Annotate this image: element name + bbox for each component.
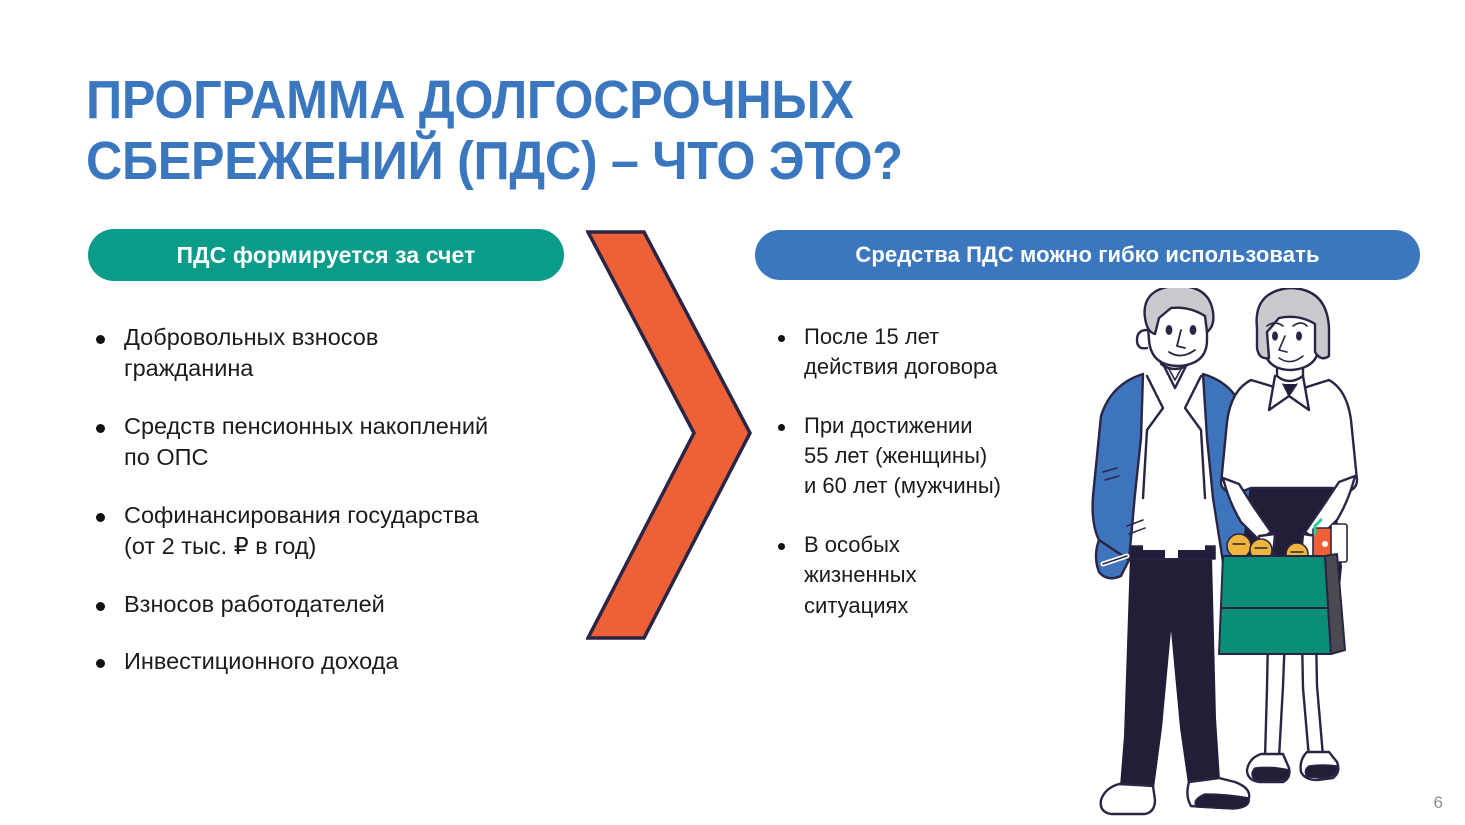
woman-figure xyxy=(1219,288,1357,782)
bullet-dot-icon xyxy=(96,335,105,344)
right-panel-heading-pill: Средства ПДС можно гибко использовать xyxy=(755,230,1420,280)
left-bullet-list: Добровольных взносов гражданина Средств … xyxy=(96,322,574,678)
right-panel-heading-label: Средства ПДС можно гибко использовать xyxy=(855,242,1319,268)
left-panel-heading-label: ПДС формируется за счет xyxy=(177,242,476,269)
man-and-woman-illustration xyxy=(1085,288,1425,818)
bullet-dot-icon xyxy=(778,424,785,431)
list-item: Взносов работодателей xyxy=(96,589,574,620)
list-item-label: При достижении 55 лет (женщины) и 60 лет… xyxy=(804,411,1001,502)
chevron-right-arrow-icon xyxy=(586,228,752,642)
list-item: При достижении 55 лет (женщины) и 60 лет… xyxy=(778,411,1078,502)
bullet-dot-icon xyxy=(778,335,785,342)
list-item-label: В особых жизненных ситуациях xyxy=(804,530,917,621)
list-item: Инвестиционного дохода xyxy=(96,646,574,677)
list-item-label: Средств пенсионных накоплений по ОПС xyxy=(124,411,488,474)
right-bullet-list: После 15 лет действия договора При дости… xyxy=(778,322,1078,621)
bullet-dot-icon xyxy=(96,513,105,522)
bullet-dot-icon xyxy=(96,659,105,668)
bullet-dot-icon xyxy=(96,424,105,433)
list-item: В особых жизненных ситуациях xyxy=(778,530,1078,621)
list-item: Добровольных взносов гражданина xyxy=(96,322,574,385)
list-item: После 15 лет действия договора xyxy=(778,322,1078,383)
list-item-label: Взносов работодателей xyxy=(124,589,385,620)
list-item: Средств пенсионных накоплений по ОПС xyxy=(96,411,574,474)
list-item-label: После 15 лет действия договора xyxy=(804,322,997,383)
list-item-label: Добровольных взносов гражданина xyxy=(124,322,378,385)
page-title: ПРОГРАММА ДОЛГОСРОЧНЫХ СБЕРЕЖЕНИЙ (ПДС) … xyxy=(86,70,1128,191)
slide-canvas: ПРОГРАММА ДОЛГОСРОЧНЫХ СБЕРЕЖЕНИЙ (ПДС) … xyxy=(0,0,1465,825)
list-item-label: Инвестиционного дохода xyxy=(124,646,398,677)
page-number: 6 xyxy=(1434,793,1443,813)
bullet-dot-icon xyxy=(96,602,105,611)
list-item: Софинансирования государства (от 2 тыс. … xyxy=(96,500,574,563)
list-item-label: Софинансирования государства (от 2 тыс. … xyxy=(124,500,479,563)
left-panel-heading-pill: ПДС формируется за счет xyxy=(88,229,564,281)
bullet-dot-icon xyxy=(778,543,785,550)
